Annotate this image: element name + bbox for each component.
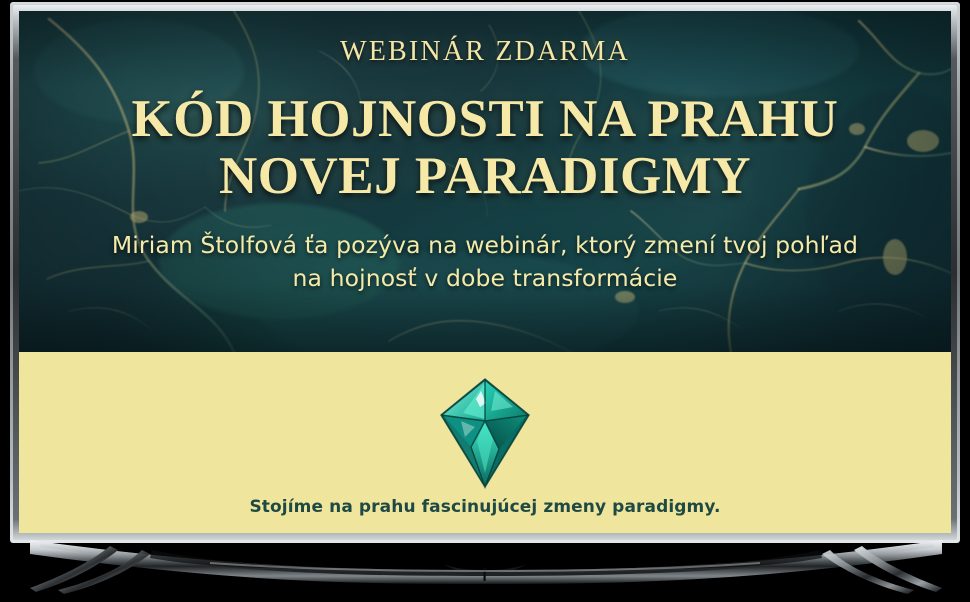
page-title: KÓD HOJNOSTI NA PRAHU NOVEJ PARADIGMY <box>19 91 951 204</box>
subtitle-line-1: Miriam Štolfová ťa pozýva na webinár, kt… <box>85 229 885 262</box>
subtitle: Miriam Štolfová ťa pozýva na webinár, kt… <box>85 229 885 296</box>
kicker-label: WEBINÁR ZDARMA <box>19 36 951 68</box>
stand-crossbar <box>30 540 942 584</box>
gem-graphic-wrapper <box>435 377 535 494</box>
slide-hero-marble: WEBINÁR ZDARMA KÓD HOJNOSTI NA PRAHU NOV… <box>19 11 951 352</box>
emerald-gem-icon <box>435 377 535 489</box>
tv-frame: WEBINÁR ZDARMA KÓD HOJNOSTI NA PRAHU NOV… <box>10 2 960 543</box>
slide-cream-panel: Stojíme na prahu fascinujúcej zmeny para… <box>19 352 951 533</box>
screenshot-stage: WEBINÁR ZDARMA KÓD HOJNOSTI NA PRAHU NOV… <box>0 0 970 599</box>
tv-screen: WEBINÁR ZDARMA KÓD HOJNOSTI NA PRAHU NOV… <box>19 11 951 533</box>
floor-shadow <box>40 586 930 602</box>
subtitle-line-2: na hojnosť v dobe transformácie <box>85 262 885 295</box>
title-line-2: NOVEJ PARADIGMY <box>19 148 951 205</box>
title-line-1: KÓD HOJNOSTI NA PRAHU <box>19 91 951 148</box>
footnote-text: Stojíme na prahu fascinujúcej zmeny para… <box>19 497 951 517</box>
hero-text-block: WEBINÁR ZDARMA KÓD HOJNOSTI NA PRAHU NOV… <box>19 11 951 352</box>
